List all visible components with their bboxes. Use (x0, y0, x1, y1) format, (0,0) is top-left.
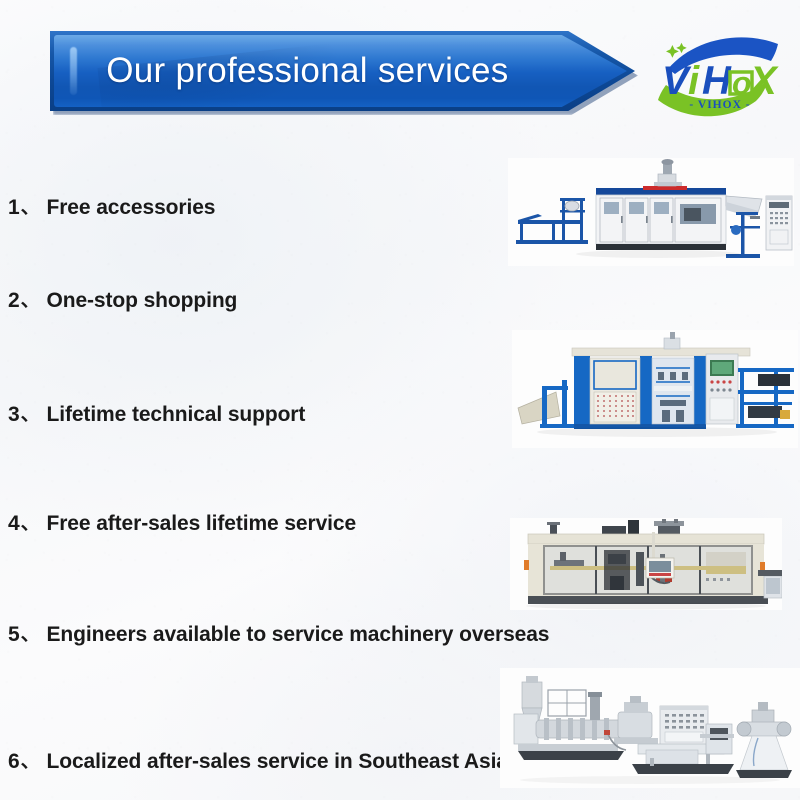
service-item-2: 2 、 One-stop shopping (8, 286, 237, 313)
page-title: Our professional services (50, 31, 565, 111)
sheet-extrusion-line-image (500, 668, 800, 788)
service-label: Localized after-sales service in Southea… (47, 750, 508, 774)
service-separator: 、 (21, 746, 40, 773)
service-item-3: 3 、 Lifetime technical support (8, 400, 305, 427)
machine-photo-4 (500, 668, 800, 788)
service-item-5: 5 、 Engineers available to service machi… (8, 620, 549, 647)
service-separator: 、 (21, 399, 40, 426)
company-logo: V i H o X - VIHOX - (650, 22, 790, 132)
control-cabinet (766, 196, 792, 250)
logo-letter-h: H (702, 59, 732, 103)
side-indicator (524, 560, 529, 570)
thermoforming-production-line-image (508, 158, 794, 266)
service-item-6: 6 、 Localized after-sales service in Sou… (8, 747, 508, 774)
service-number: 4 (8, 512, 20, 536)
service-label: Free after-sales lifetime service (47, 512, 357, 536)
service-number: 2 (8, 289, 20, 313)
machine-photo-2 (512, 330, 798, 448)
title-banner: Our professional services (50, 31, 635, 111)
control-cabinet (660, 706, 708, 746)
logo-letter-i: i (688, 59, 700, 103)
service-label: Engineers available to service machinery… (47, 623, 550, 647)
machine-photo-3 (510, 518, 782, 610)
service-number: 5 (8, 623, 20, 647)
machine-photo-1 (508, 158, 794, 266)
service-item-1: 1 、 Free accessories (8, 193, 215, 220)
service-number: 6 (8, 750, 20, 774)
vacuum-forming-machine-image (512, 330, 798, 448)
service-label: Lifetime technical support (47, 403, 306, 427)
service-separator: 、 (21, 192, 40, 219)
enclosed-forming-machine-image (510, 518, 782, 610)
hmi-control-panel (706, 354, 738, 424)
service-separator: 、 (21, 285, 40, 312)
logo-subtext: - VIHOX - (689, 99, 750, 111)
service-number: 1 (8, 196, 20, 220)
forming-cabinet (596, 186, 726, 250)
logo-wordmark: V i H o X (662, 59, 779, 103)
logo-graphic: V i H o X - VIHOX - (650, 22, 790, 132)
page-canvas: Our professional services V i H o (0, 0, 800, 800)
service-separator: 、 (21, 619, 40, 646)
service-item-4: 4 、 Free after-sales lifetime service (8, 509, 356, 536)
service-number: 3 (8, 403, 20, 427)
page-header: Our professional services V i H o (0, 0, 800, 140)
service-label: Free accessories (47, 196, 216, 220)
service-label: One-stop shopping (47, 289, 238, 313)
service-separator: 、 (21, 508, 40, 535)
